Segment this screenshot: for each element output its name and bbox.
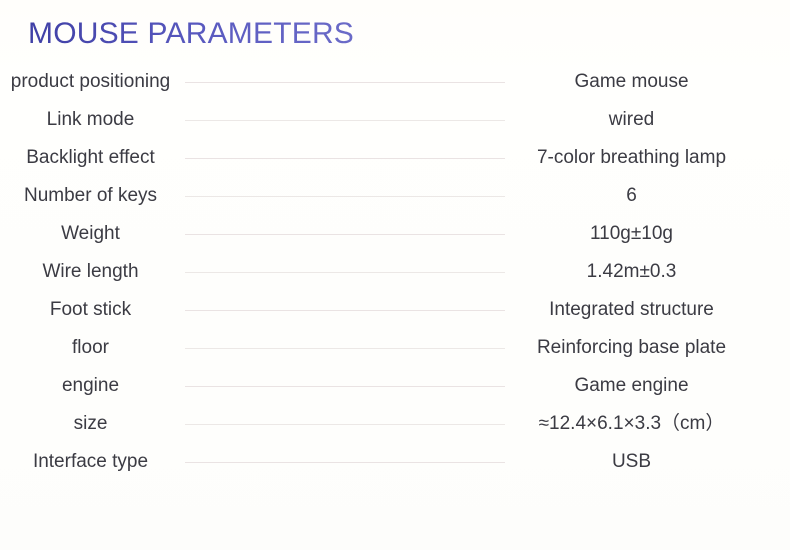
spec-row: Backlight effect7-color breathing lamp — [0, 138, 790, 176]
spec-value: 6 — [505, 183, 790, 208]
spec-row: size≈12.4×6.1×3.3（cm） — [0, 404, 790, 442]
spec-value: Game mouse — [505, 69, 790, 94]
specification-table: product positioningGame mouseLink modewi… — [0, 62, 790, 480]
spec-row: floorReinforcing base plate — [0, 328, 790, 366]
spec-label: Weight — [0, 221, 185, 246]
spec-divider-line — [185, 158, 505, 159]
spec-value: ≈12.4×6.1×3.3（cm） — [505, 411, 790, 436]
page-title: MOUSE PARAMETERS — [28, 15, 354, 53]
spec-row: Link modewired — [0, 100, 790, 138]
spec-divider-line — [185, 348, 505, 349]
spec-row: engineGame engine — [0, 366, 790, 404]
spec-label: Backlight effect — [0, 145, 185, 170]
spec-divider-line — [185, 196, 505, 197]
spec-divider-line — [185, 424, 505, 425]
spec-row: Wire length1.42m±0.3 — [0, 252, 790, 290]
spec-label: engine — [0, 373, 185, 398]
spec-label: Link mode — [0, 107, 185, 132]
spec-label: Interface type — [0, 449, 185, 474]
spec-value: wired — [505, 107, 790, 132]
spec-label: Foot stick — [0, 297, 185, 322]
spec-divider-line — [185, 82, 505, 83]
spec-value: Game engine — [505, 373, 790, 398]
spec-value: 7-color breathing lamp — [505, 145, 790, 170]
spec-row: Weight110g±10g — [0, 214, 790, 252]
mouse-parameters-page: MOUSE PARAMETERS product positioningGame… — [0, 0, 790, 550]
spec-divider-line — [185, 386, 505, 387]
spec-row: Number of keys6 — [0, 176, 790, 214]
spec-value: 1.42m±0.3 — [505, 259, 790, 284]
spec-label: Number of keys — [0, 183, 185, 208]
spec-value: 110g±10g — [505, 221, 790, 246]
spec-divider-line — [185, 310, 505, 311]
spec-row: Foot stickIntegrated structure — [0, 290, 790, 328]
spec-value: Reinforcing base plate — [505, 335, 790, 360]
spec-label: product positioning — [0, 69, 185, 94]
spec-label: floor — [0, 335, 185, 360]
spec-divider-line — [185, 234, 505, 235]
spec-label: size — [0, 411, 185, 436]
spec-value: Integrated structure — [505, 297, 790, 322]
spec-divider-line — [185, 272, 505, 273]
spec-label: Wire length — [0, 259, 185, 284]
spec-divider-line — [185, 120, 505, 121]
spec-row: product positioningGame mouse — [0, 62, 790, 100]
spec-value: USB — [505, 449, 790, 474]
spec-divider-line — [185, 462, 505, 463]
spec-row: Interface typeUSB — [0, 442, 790, 480]
